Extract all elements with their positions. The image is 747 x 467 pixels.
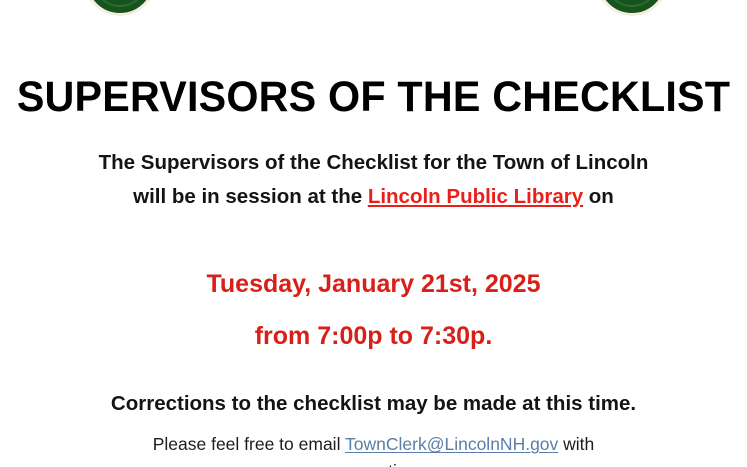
venue-link[interactable]: Lincoln Public Library bbox=[368, 185, 583, 208]
contact-line-1: Please feel free to email TownClerk@Linc… bbox=[0, 431, 747, 458]
email-link[interactable]: TownClerk@LincolnNH.gov bbox=[345, 434, 558, 454]
town-seal-left-icon bbox=[84, 0, 156, 16]
contact-line-2: any questions. bbox=[0, 458, 747, 467]
session-time: from 7:00p to 7:30p. bbox=[0, 310, 747, 362]
intro-line-2-prefix: will be in session at the bbox=[133, 185, 368, 208]
contact-footer: Please feel free to email TownClerk@Linc… bbox=[0, 431, 747, 467]
session-schedule: Tuesday, January 21st, 2025 from 7:00p t… bbox=[0, 258, 747, 362]
flyer-page: SUPERVISORS OF THE CHECKLIST The Supervi… bbox=[0, 0, 747, 467]
contact-line-1-suffix: with bbox=[558, 434, 594, 454]
session-date: Tuesday, January 21st, 2025 bbox=[0, 258, 747, 310]
contact-line-1-prefix: Please feel free to email bbox=[153, 434, 345, 454]
intro-paragraph: The Supervisors of the Checklist for the… bbox=[0, 146, 747, 214]
intro-line-2-suffix: on bbox=[583, 185, 614, 208]
intro-line-2: will be in session at the Lincoln Public… bbox=[0, 180, 747, 214]
intro-line-1: The Supervisors of the Checklist for the… bbox=[0, 146, 747, 180]
corrections-notice: Corrections to the checklist may be made… bbox=[0, 391, 747, 417]
town-seal-right-icon bbox=[596, 0, 668, 16]
page-title: SUPERVISORS OF THE CHECKLIST bbox=[15, 76, 732, 119]
